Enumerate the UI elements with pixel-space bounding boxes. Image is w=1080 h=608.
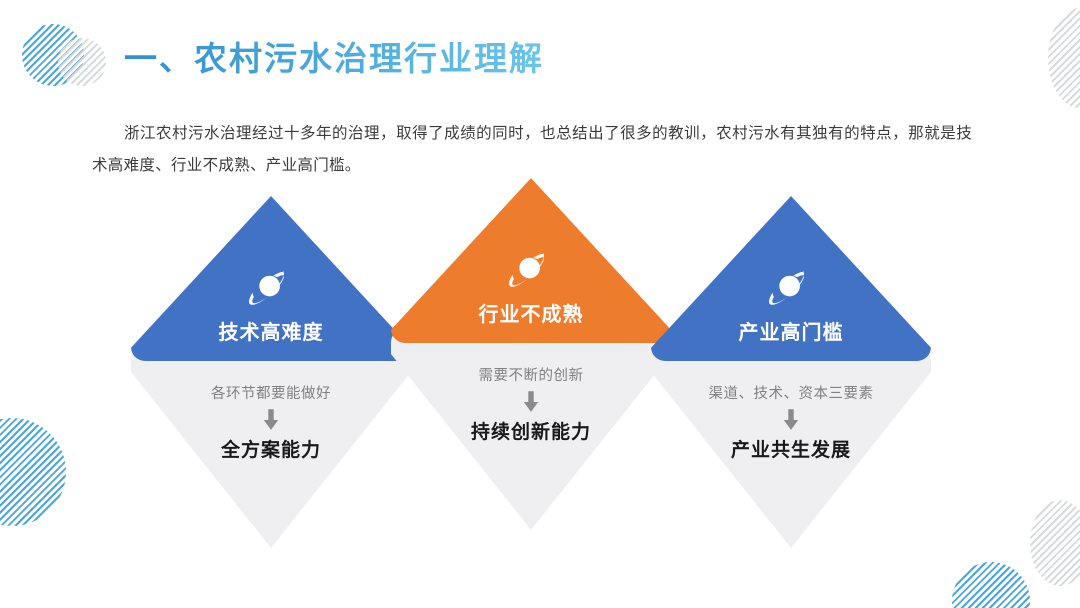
diagram-column-3: 产业高门槛 渠道、技术、资本三要素 产业共生发展 xyxy=(651,196,931,566)
sub-bottom-text-1: 全方案能力 xyxy=(221,435,321,462)
planet-icon xyxy=(509,246,553,290)
page-title: 一、农村污水治理行业理解 xyxy=(124,32,544,80)
triangle-label-1: 技术高难度 xyxy=(219,316,324,345)
triangle-label-2: 行业不成熟 xyxy=(479,298,584,327)
planet-icon xyxy=(769,264,813,308)
arrow-down-icon xyxy=(782,409,800,431)
arrow-down-icon xyxy=(522,391,540,413)
slide-canvas: 一、农村污水治理行业理解 浙江农村污水治理经过十多年的治理，取得了成绩的同时，也… xyxy=(0,0,1080,608)
planet-icon xyxy=(249,264,293,308)
lower-triangle-2-content: 需要不断的创新 持续创新能力 xyxy=(391,330,671,530)
diagram-column-2: 行业不成熟 需要不断的创新 持续创新能力 xyxy=(391,178,671,548)
sub-top-text-3: 渠道、技术、资本三要素 xyxy=(709,382,874,403)
body-paragraph: 浙江农村污水治理经过十多年的治理，取得了成绩的同时，也总结出了很多的教训，农村污… xyxy=(92,118,972,182)
top-left-grey-striped-circle xyxy=(58,38,106,86)
sub-bottom-text-3: 产业共生发展 xyxy=(731,435,851,462)
top-left-blue-striped-circle xyxy=(22,24,84,86)
triangle-diagram: 技术高难度 各环节都要能做好 全方案能力 xyxy=(0,196,1080,566)
triangle-label-3: 产业高门槛 xyxy=(739,316,844,345)
arrow-down-icon xyxy=(262,409,280,431)
sub-top-text-2: 需要不断的创新 xyxy=(479,364,584,385)
lower-triangle-3-content: 渠道、技术、资本三要素 产业共生发展 xyxy=(651,348,931,548)
lower-triangle-1-content: 各环节都要能做好 全方案能力 xyxy=(131,348,411,548)
diagram-column-1: 技术高难度 各环节都要能做好 全方案能力 xyxy=(131,196,411,566)
bottom-right-blue-striped-circle xyxy=(952,562,1030,608)
upper-triangle-3-content: 产业高门槛 xyxy=(651,196,931,361)
top-right-grey-striped-circle xyxy=(1048,8,1080,108)
sub-bottom-text-2: 持续创新能力 xyxy=(471,417,591,444)
sub-top-text-1: 各环节都要能做好 xyxy=(211,382,331,403)
upper-triangle-2-content: 行业不成熟 xyxy=(391,178,671,343)
upper-triangle-1-content: 技术高难度 xyxy=(131,196,411,361)
